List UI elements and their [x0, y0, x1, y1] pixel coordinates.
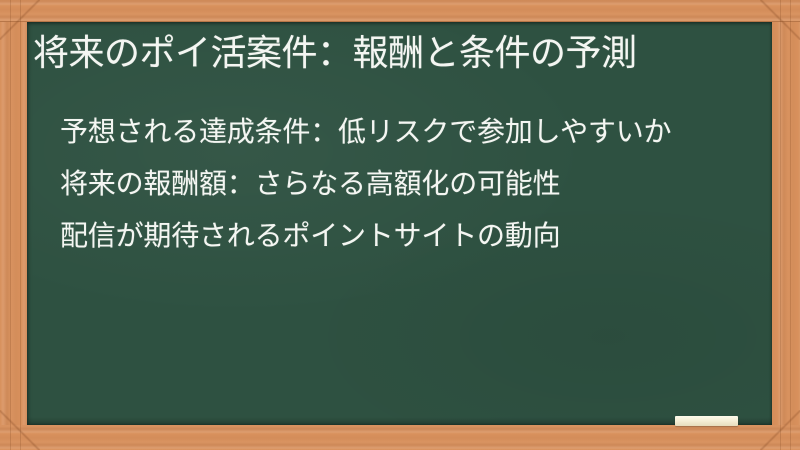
- slide-title: 将来のポイ活案件：報酬と条件の予測: [33, 30, 763, 76]
- frame-grain-line-right: [780, 0, 781, 450]
- frame-grain-line-left: [10, 0, 11, 450]
- chalkboard-slide: 将来のポイ活案件：報酬と条件の予測 予想される達成条件：低リスクで参加しやすいか…: [0, 0, 800, 450]
- frame-rail-bottom: [0, 425, 800, 450]
- chalkboard-surface: 将来のポイ活案件：報酬と条件の予測 予想される達成条件：低リスクで参加しやすいか…: [27, 22, 772, 425]
- frame-rail-top: [0, 0, 800, 22]
- bullet-item: 配信が期待されるポイントサイトの動向: [60, 210, 760, 262]
- slide-bullet-list: 予想される達成条件：低リスクで参加しやすいか 将来の報酬額：さらなる高額化の可能…: [60, 106, 760, 262]
- bullet-item: 将来の報酬額：さらなる高額化の可能性: [60, 158, 760, 210]
- bullet-item: 予想される達成条件：低リスクで参加しやすいか: [60, 106, 760, 158]
- chalk-stick-icon: [675, 416, 738, 426]
- frame-grain-line-right-outer: [790, 0, 791, 450]
- board-bottom-shadow: [27, 417, 772, 425]
- frame-grain-line-left-inner: [20, 0, 21, 450]
